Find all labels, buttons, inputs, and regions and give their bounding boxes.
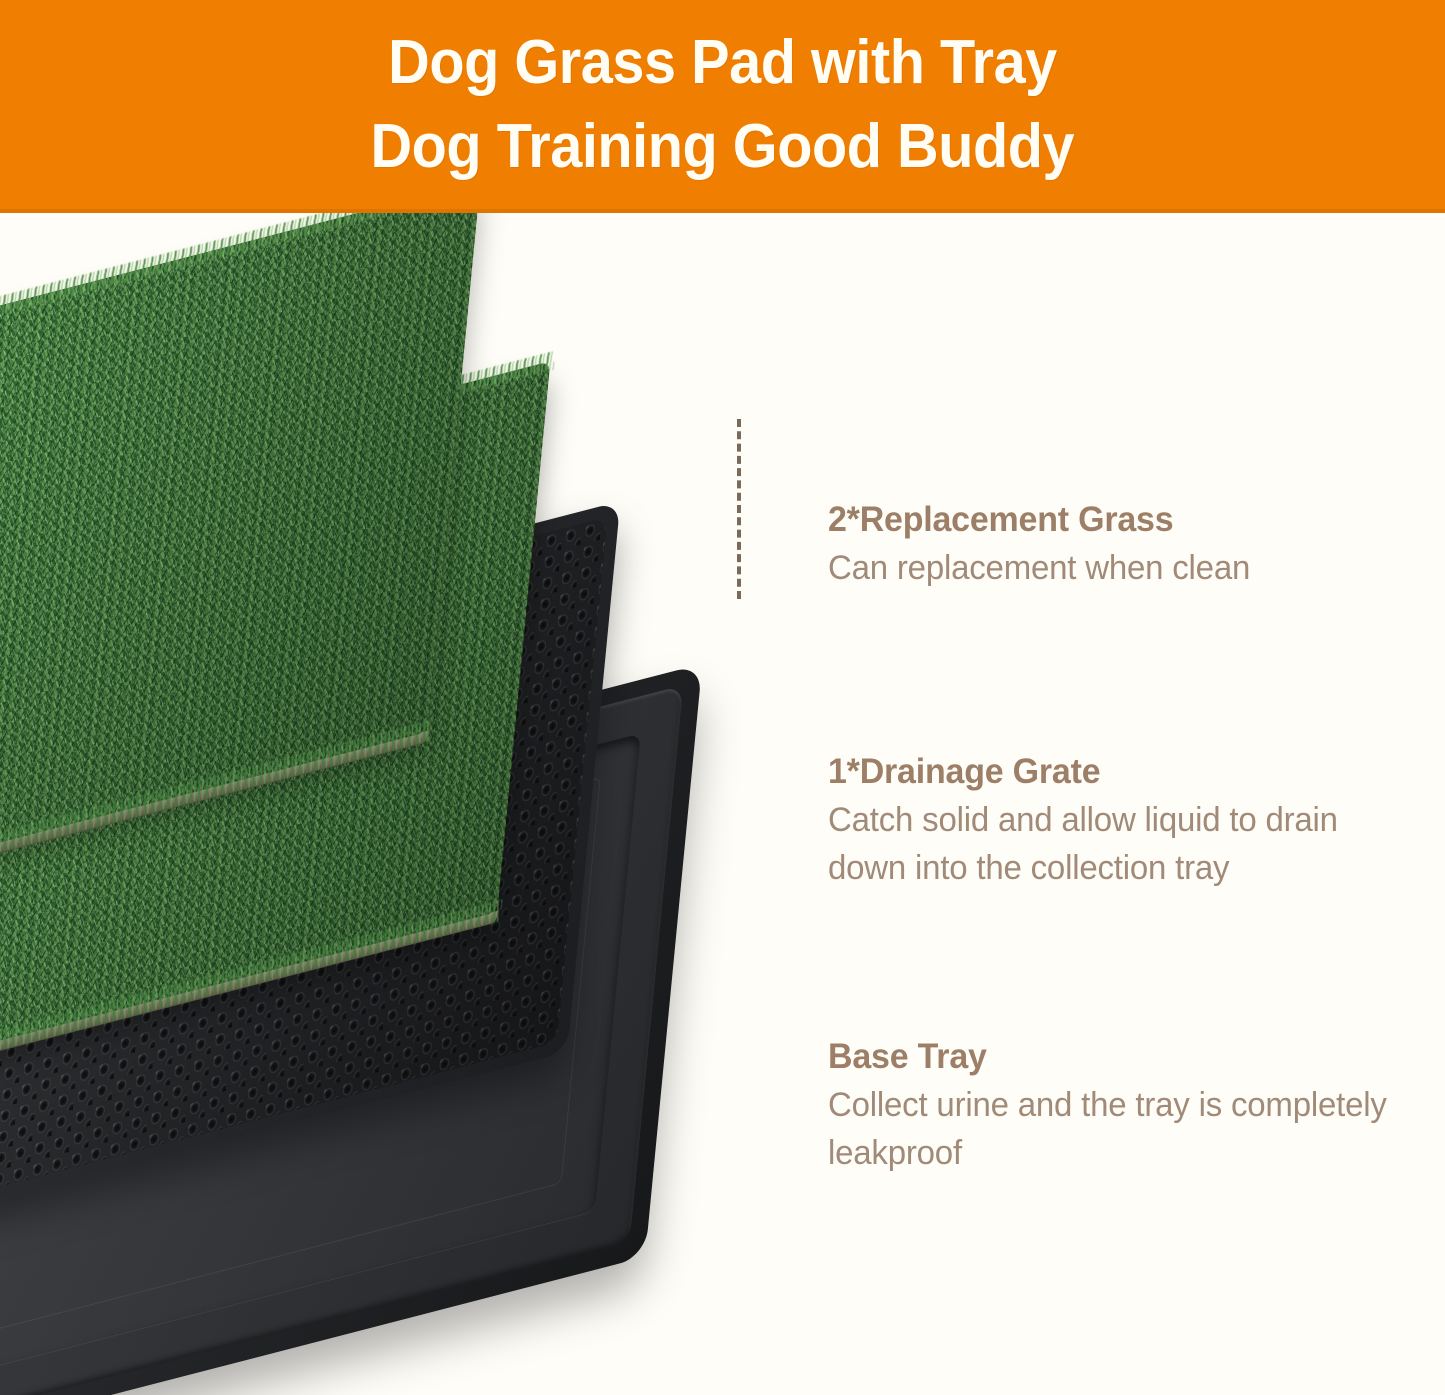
banner-title-line-2: Dog Training Good Buddy <box>371 105 1075 189</box>
callout-base-tray: Base Tray Collect urine and the tray is … <box>828 1035 1428 1177</box>
callout-heading-drainage-grate: 1*Drainage Grate <box>828 750 1410 794</box>
connector-bracket-vertical <box>737 419 741 599</box>
callout-replacement-grass: 2*Replacement Grass Can replacement when… <box>828 498 1263 592</box>
callout-drainage-grate: 1*Drainage Grate Catch solid and allow l… <box>828 750 1428 892</box>
callout-heading-base-tray: Base Tray <box>828 1035 1410 1079</box>
callout-body-base-tray: Collect urine and the tray is completely… <box>828 1081 1410 1177</box>
banner-title-line-1: Dog Grass Pad with Tray <box>388 21 1057 105</box>
callout-heading-replacement-grass: 2*Replacement Grass <box>828 498 1250 542</box>
callout-body-replacement-grass: Can replacement when clean <box>828 544 1250 592</box>
header-banner: Dog Grass Pad with Tray Dog Training Goo… <box>0 0 1445 213</box>
callout-body-drainage-grate: Catch solid and allow liquid to drain do… <box>828 796 1410 892</box>
